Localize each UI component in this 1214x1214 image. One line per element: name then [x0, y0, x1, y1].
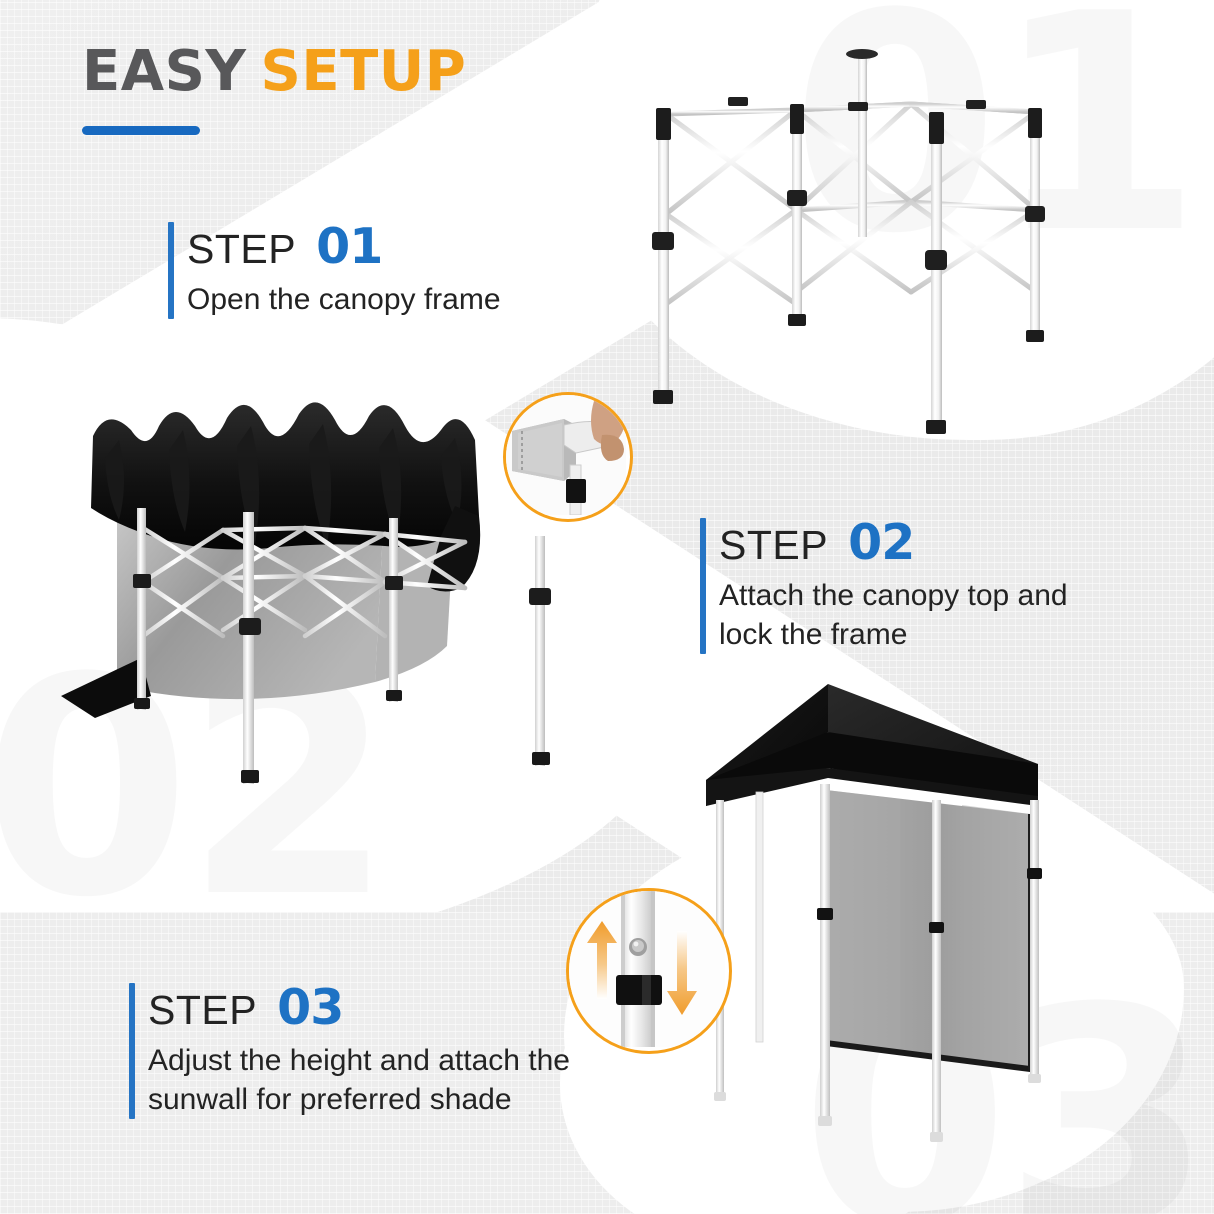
step-number: 02 [848, 518, 914, 567]
step-accent-bar [129, 983, 135, 1119]
step-description: Attach the canopy top and lock the frame [719, 576, 1068, 654]
page-header: EASYSETUP [82, 44, 466, 135]
step-description: Open the canopy frame [187, 280, 501, 319]
callout-height-adjustment [566, 888, 732, 1054]
product-image-canopy-with-sunwall [700, 672, 1100, 1172]
page-title-primary: EASY [82, 39, 246, 104]
step-label: STEP [148, 990, 257, 1031]
product-image-canopy-frame [636, 42, 1066, 442]
step-block-03: STEP 03 Adjust the height and attach the… [129, 983, 570, 1119]
step-label: STEP [187, 229, 296, 270]
step-accent-bar [700, 518, 706, 654]
step-accent-bar [168, 222, 174, 319]
step-number: 03 [277, 983, 343, 1032]
step-label: STEP [719, 525, 828, 566]
step-block-02: STEP 02 Attach the canopy top and lock t… [700, 518, 1068, 654]
step-description: Adjust the height and attach the sunwall… [148, 1041, 570, 1119]
step-block-01: STEP 01 Open the canopy frame [168, 222, 501, 319]
callout-velcro-strap [503, 392, 633, 522]
step-number: 01 [316, 222, 382, 271]
title-underline-rule [82, 126, 200, 135]
page-title: EASYSETUP [82, 44, 466, 100]
height-pin [629, 938, 647, 956]
infographic-canvas: 01 02 03 EASYSETUP STEP 01 Open the cano… [0, 0, 1214, 1214]
page-title-accent: SETUP [260, 39, 466, 104]
